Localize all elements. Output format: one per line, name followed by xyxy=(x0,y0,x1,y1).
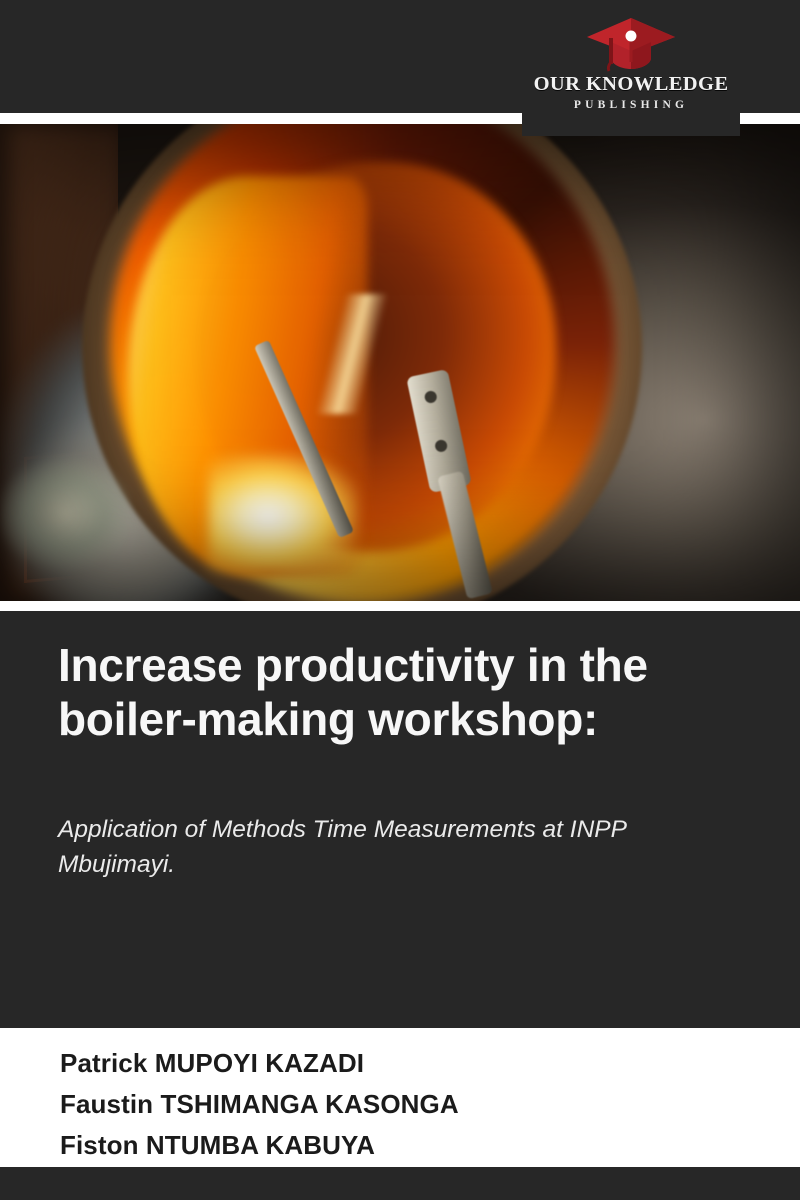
author-name: Patrick MUPOYI KAZADI xyxy=(60,1050,364,1076)
hero-photo xyxy=(0,124,800,601)
author-name: Faustin TSHIMANGA KASONGA xyxy=(60,1091,459,1117)
book-subtitle: Application of Methods Time Measurements… xyxy=(58,813,730,883)
graduation-cap-icon xyxy=(585,16,677,72)
publisher-tagline: PUBLISHING xyxy=(574,100,688,112)
title-block: Increase productivity in the boiler-maki… xyxy=(0,611,800,1028)
publisher-name: OUR KNOWLEDGE xyxy=(534,74,729,95)
author-name: Fiston NTUMBA KABUYA xyxy=(60,1132,375,1158)
photo-vignette xyxy=(0,124,800,601)
book-cover: OUR KNOWLEDGE PUBLISHING Increase produc… xyxy=(0,0,800,1200)
authors-block: Patrick MUPOYI KAZADI Faustin TSHIMANGA … xyxy=(0,1028,800,1167)
book-title: Increase productivity in the boiler-maki… xyxy=(58,639,738,747)
bottom-footer-band xyxy=(0,1167,800,1200)
publisher-logo: OUR KNOWLEDGE PUBLISHING xyxy=(522,0,740,136)
